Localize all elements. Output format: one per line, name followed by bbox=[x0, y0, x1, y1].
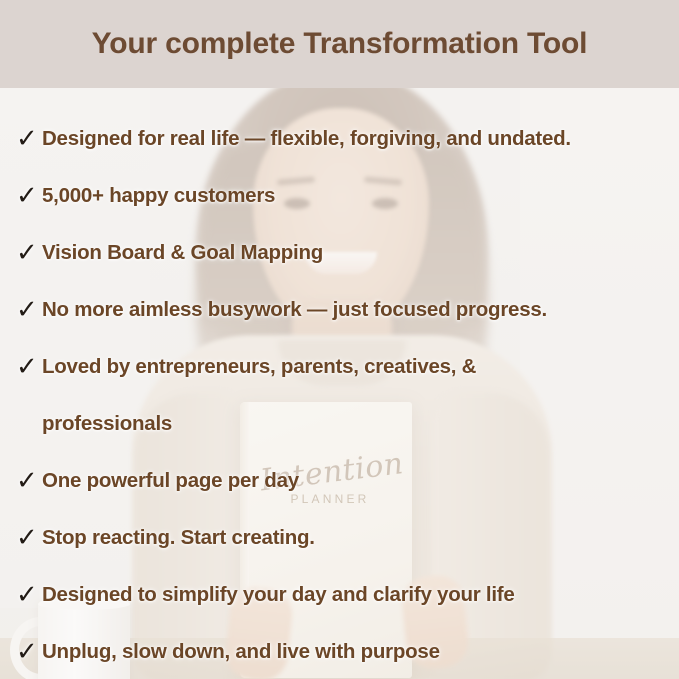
feature-list-item-label: No more aimless busywork — just focused … bbox=[42, 298, 547, 322]
checkmark-icon: ✓ bbox=[16, 354, 42, 380]
feature-list-item-label: One powerful page per day bbox=[42, 469, 299, 493]
header-banner: Your complete Transformation Tool bbox=[0, 0, 679, 88]
checkmark-icon: ✓ bbox=[16, 525, 42, 551]
page-title: Your complete Transformation Tool bbox=[92, 27, 588, 61]
feature-list-item-label: professionals bbox=[42, 412, 172, 436]
checkmark-icon: ✓ bbox=[16, 183, 42, 209]
checkmark-icon: ✓ bbox=[16, 240, 42, 266]
checkmark-icon: ✓ bbox=[16, 639, 42, 665]
checkmark-icon: ✓ bbox=[16, 297, 42, 323]
feature-list-item: ✓One powerful page per day bbox=[0, 452, 679, 509]
feature-list-item-label: Stop reacting. Start creating. bbox=[42, 526, 315, 550]
promo-graphic: Intention PLANNER Your complete Transfor… bbox=[0, 0, 679, 679]
feature-list-item: ✓No more aimless busywork — just focused… bbox=[0, 281, 679, 338]
feature-list-item: ✓Loved by entrepreneurs, parents, creati… bbox=[0, 338, 679, 395]
feature-list-item: ✓Designed to simplify your day and clari… bbox=[0, 566, 679, 623]
feature-list-item: ✓Unplug, slow down, and live with purpos… bbox=[0, 623, 679, 679]
checkmark-icon: ✓ bbox=[16, 468, 42, 494]
feature-list-item-label: Designed for real life — flexible, forgi… bbox=[42, 127, 571, 151]
feature-list-item-label: 5,000+ happy customers bbox=[42, 184, 275, 208]
feature-list-item-label: Vision Board & Goal Mapping bbox=[42, 241, 323, 265]
feature-list: ✓Designed for real life — flexible, forg… bbox=[0, 88, 679, 679]
feature-list-item-continuation: ✓professionals bbox=[0, 395, 679, 452]
feature-list-item: ✓Vision Board & Goal Mapping bbox=[0, 224, 679, 281]
checkmark-icon: ✓ bbox=[16, 582, 42, 608]
feature-list-item: ✓Designed for real life — flexible, forg… bbox=[0, 110, 679, 167]
feature-list-item: ✓Stop reacting. Start creating. bbox=[0, 509, 679, 566]
feature-list-item-label: Unplug, slow down, and live with purpose bbox=[42, 640, 440, 664]
checkmark-icon: ✓ bbox=[16, 126, 42, 152]
feature-list-item: ✓5,000+ happy customers bbox=[0, 167, 679, 224]
feature-list-item-label: Designed to simplify your day and clarif… bbox=[42, 583, 515, 607]
feature-list-item-label: Loved by entrepreneurs, parents, creativ… bbox=[42, 355, 476, 379]
